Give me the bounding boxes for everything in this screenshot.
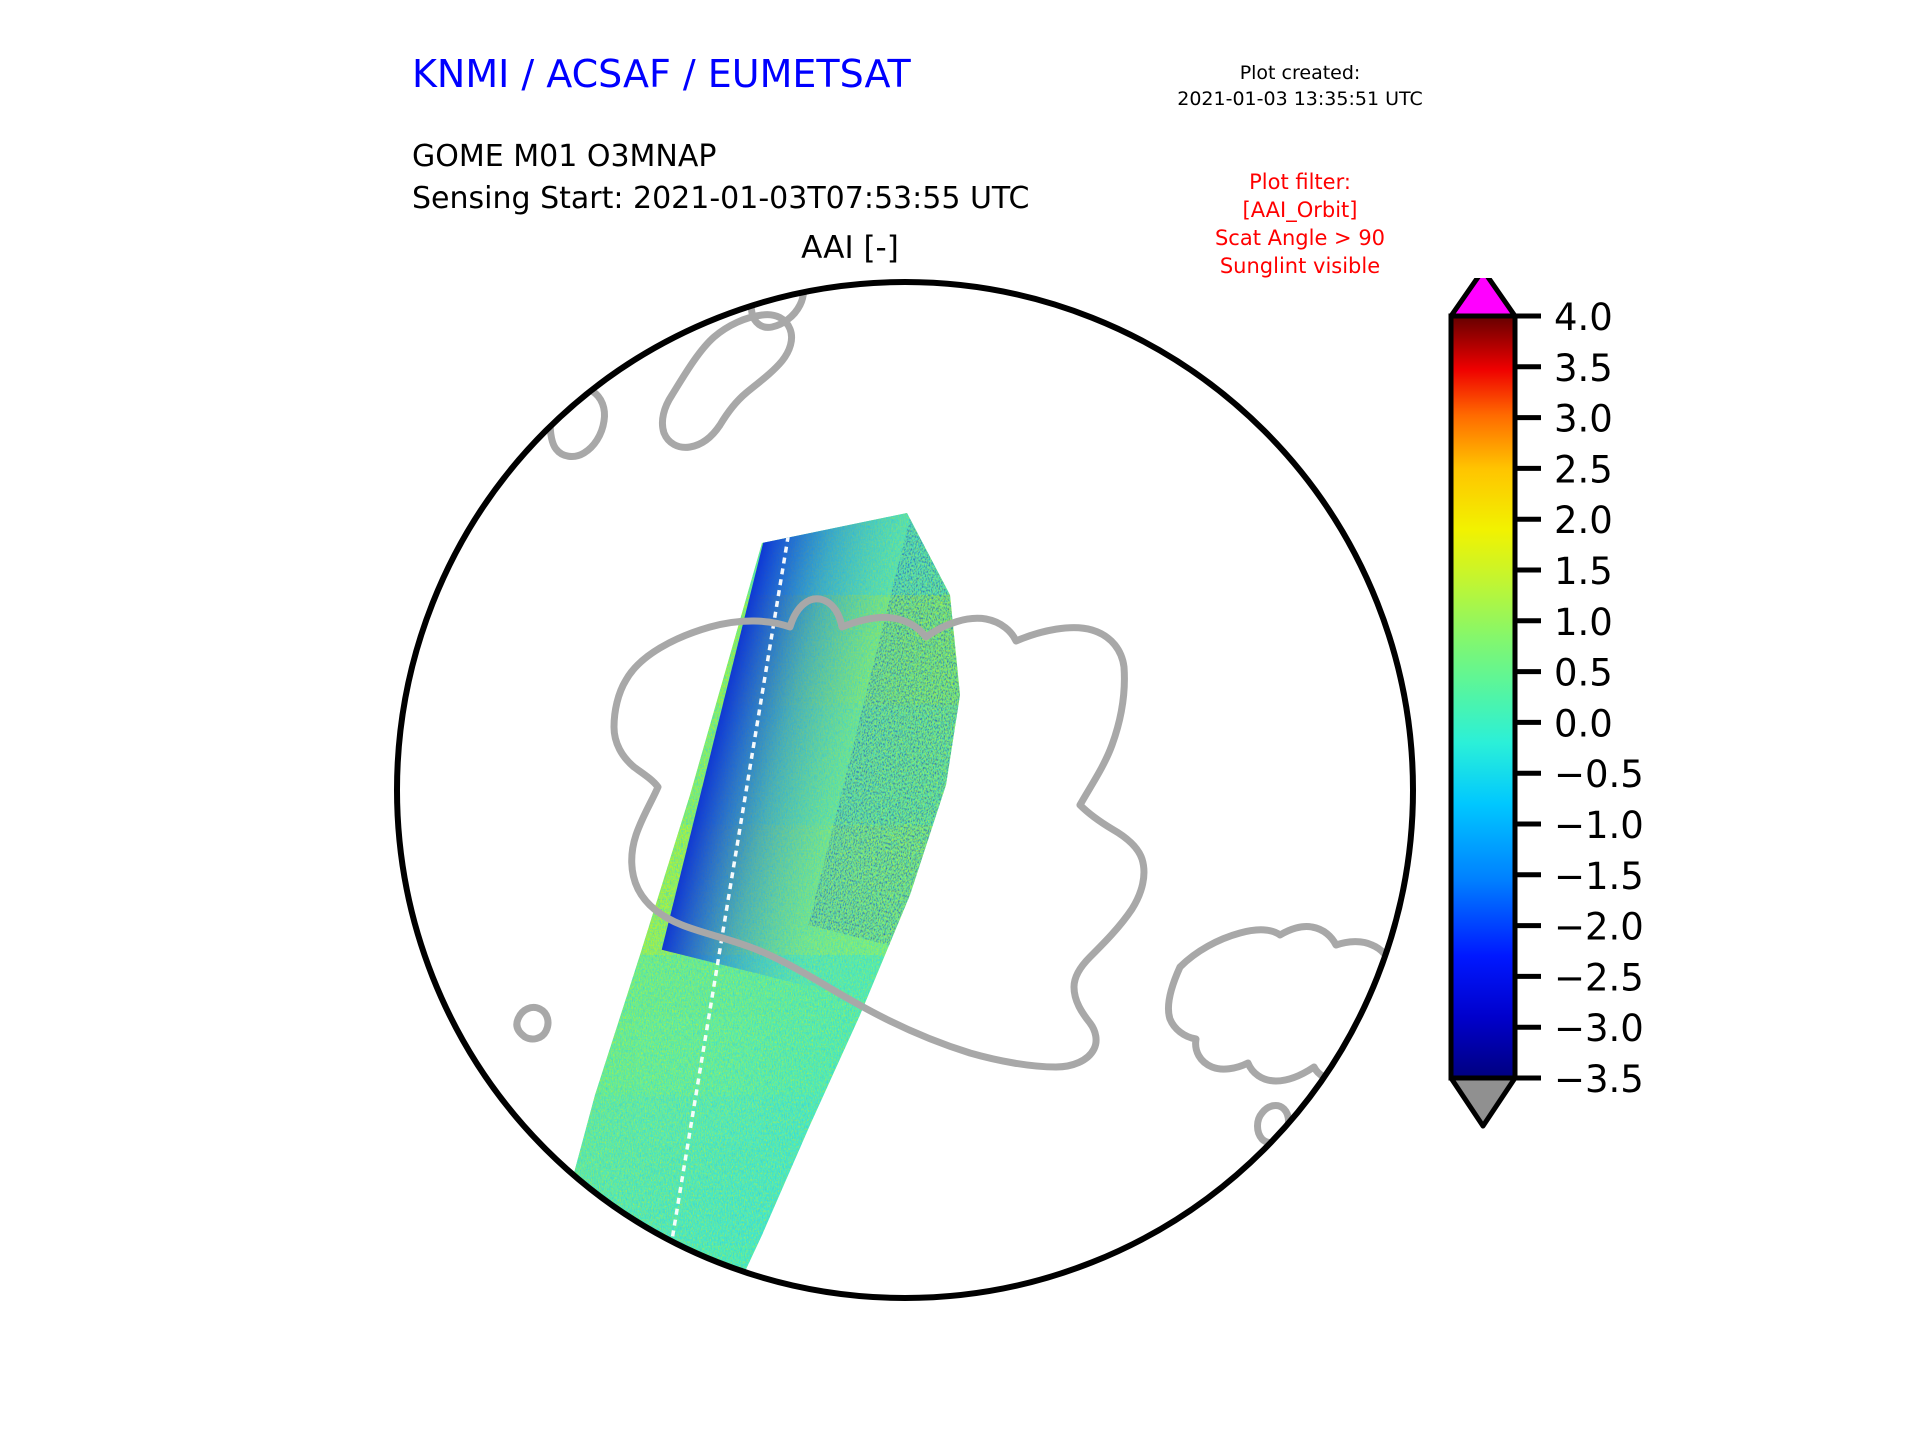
colorbar-under-range-arrow [1451,1078,1515,1126]
polar-map-svg [390,275,1420,1305]
colorbar-tick: 0.5 [1515,652,1613,695]
colorbar-tick: 2.0 [1515,499,1613,542]
colorbar-tick: 3.0 [1515,398,1613,441]
colorbar-panel: 4.0 3.5 3.0 2.5 2.0 [1438,278,1838,1338]
colorbar-tick-label: 3.0 [1554,398,1613,441]
sensing-start-line: Sensing Start: 2021-01-03T07:53:55 UTC [412,178,1029,220]
colorbar-tick-label: 1.0 [1554,601,1613,644]
colorbar-tick: −3.5 [1515,1058,1644,1101]
colorbar-ticks: 4.0 3.5 3.0 2.5 2.0 [1515,296,1644,1101]
colorbar-tick: −2.5 [1515,956,1644,999]
colorbar-tick-label: −1.5 [1554,855,1644,898]
colorbar-tick-label: 2.5 [1554,448,1613,491]
colorbar-tick-label: −2.5 [1554,956,1644,999]
colorbar-tick-label: 0.5 [1554,652,1613,695]
instrument-product-line: GOME M01 O3MNAP [412,136,1029,178]
colorbar-tick: −0.5 [1515,753,1644,796]
colorbar-tick-label: −3.0 [1554,1007,1644,1050]
colorbar-tick-label: −0.5 [1554,753,1644,796]
colorbar-tick-label: −1.0 [1554,804,1644,847]
colorbar-tick: 4.0 [1515,296,1613,339]
plot-filter-label: Plot filter: [1140,168,1460,196]
colorbar-tick-label: 3.5 [1554,347,1613,390]
colorbar-over-range-arrow [1451,278,1515,316]
map-panel [390,275,1420,1305]
colorbar-tick-label: −2.0 [1554,906,1644,949]
organization-title: KNMI / ACSAF / EUMETSAT [412,52,911,96]
colorbar-gradient-bar [1451,316,1515,1078]
colorbar-tick: 0.0 [1515,702,1613,745]
colorbar-tick-label: 2.0 [1554,499,1613,542]
colorbar-tick: 1.0 [1515,601,1613,644]
plot-filter-scat-angle: Scat Angle > 90 [1140,224,1460,252]
plot-created-block: Plot created: 2021-01-03 13:35:51 UTC [1140,60,1460,112]
colorbar-tick-label: 0.0 [1554,702,1613,745]
coastline-south-america-tail [1352,1075,1417,1206]
colorbar-tick-label: −3.5 [1554,1058,1644,1101]
colorbar-tick: −3.0 [1515,1007,1644,1050]
colorbar-tick: −1.0 [1515,804,1644,847]
colorbar-tick: 2.5 [1515,448,1613,491]
plot-filter-name: [AAI_Orbit] [1140,196,1460,224]
colorbar-tick: 3.5 [1515,347,1613,390]
plot-created-timestamp: 2021-01-03 13:35:51 UTC [1140,86,1460,112]
colorbar-tick: 1.5 [1515,550,1613,593]
colorbar-tick: −1.5 [1515,855,1644,898]
plot-filter-block: Plot filter: [AAI_Orbit] Scat Angle > 90… [1140,168,1460,280]
coastline-australia-fragment [390,377,464,435]
dataset-info-block: GOME M01 O3MNAP Sensing Start: 2021-01-0… [412,136,1029,220]
plot-created-label: Plot created: [1140,60,1460,86]
plot-page: KNMI / ACSAF / EUMETSAT Plot created: 20… [0,0,1920,1440]
colorbar-tick: −2.0 [1515,906,1644,949]
colorbar-tick-label: 4.0 [1554,296,1613,339]
colorbar-tick-label: 1.5 [1554,550,1613,593]
colorbar-svg: 4.0 3.5 3.0 2.5 2.0 [1438,278,1838,1338]
